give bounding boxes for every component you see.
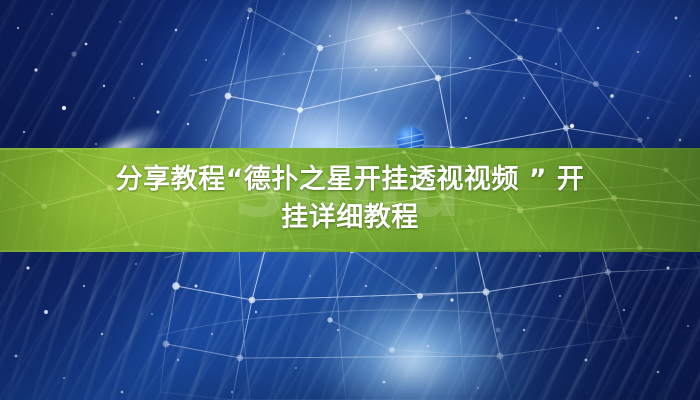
- banner-top-edge: [0, 148, 700, 150]
- page-title-line-1: 分享教程“德扑之星开挂透视视频 ” 开: [28, 161, 672, 199]
- cover-image: Sohu 分享教程“德扑之星开挂透视视频 ” 开 挂详细教程: [0, 0, 700, 400]
- page-title: 分享教程“德扑之星开挂透视视频 ” 开 挂详细教程: [0, 161, 700, 237]
- banner-bottom-edge: [0, 250, 700, 252]
- page-title-line-2: 挂详细教程: [28, 199, 672, 237]
